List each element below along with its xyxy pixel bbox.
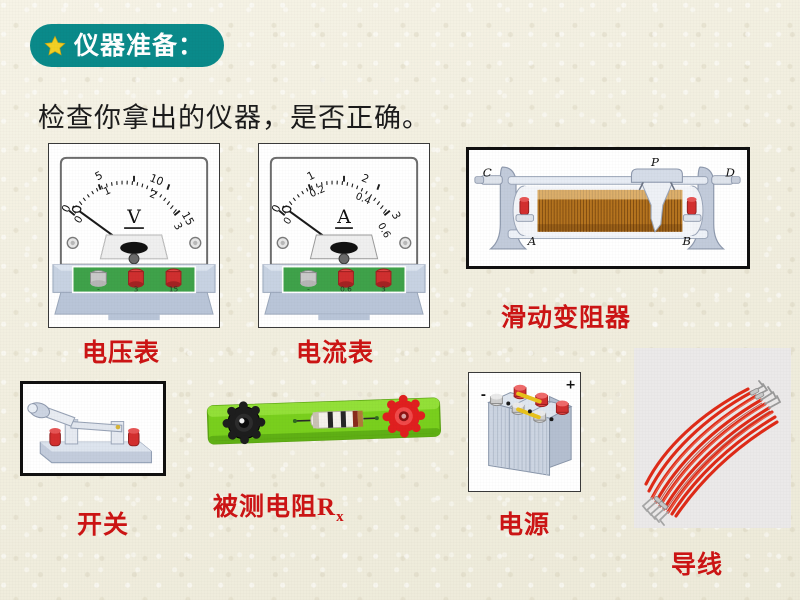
power-source-illustration: - +: [469, 373, 580, 491]
switch-illustration: [23, 384, 163, 473]
rheostat-label-B: B: [681, 234, 691, 248]
resistor-caption-prefix: 被测电阻: [213, 492, 317, 521]
voltmeter-unit-symbol: V: [126, 207, 141, 228]
power-source-negative-label: -: [481, 388, 486, 403]
voltmeter-terminal-label-3: 3: [134, 284, 139, 293]
ammeter-terminal-label-negative: -: [307, 284, 310, 293]
wires-caption: 导线: [671, 545, 723, 581]
rheostat-caption: 滑动变阻器: [501, 298, 631, 334]
power-source-caption: 电源: [498, 505, 550, 541]
section-title-text: 仪器准备：: [74, 33, 204, 58]
section-title-badge: 仪器准备：: [30, 24, 224, 67]
ammeter-figure: 0 1 2 3 0 0.2 0.4 0.6 A: [258, 143, 430, 328]
resistor-figure: [200, 392, 448, 454]
voltmeter-terminal-label-negative: -: [97, 284, 100, 293]
resistor-caption-symbol: R: [317, 494, 336, 521]
ammeter-terminal-label-3: 3: [381, 284, 386, 293]
voltmeter-figure: 0 5 10 15 0 1 2 3 V: [48, 143, 220, 328]
instruction-text: 检查你拿出的仪器，是否正确。: [38, 96, 430, 135]
ammeter-illustration: 0 1 2 3 0 0.2 0.4 0.6 A: [259, 144, 429, 327]
resistor-caption: 被测电阻Rx: [213, 487, 345, 526]
rheostat-figure: C D A B P: [466, 147, 750, 269]
ammeter-unit-symbol: A: [336, 207, 351, 228]
voltmeter-illustration: 0 5 10 15 0 1 2 3 V: [49, 144, 219, 327]
voltmeter-caption: 电压表: [82, 333, 160, 369]
rheostat-label-P: P: [650, 155, 659, 169]
rheostat-label-C: C: [483, 166, 492, 180]
wires-figure: [634, 348, 791, 528]
power-source-positive-label: +: [565, 378, 576, 393]
star-icon: [44, 35, 66, 57]
slide-canvas: 仪器准备： 检查你拿出的仪器，是否正确。: [0, 0, 800, 600]
switch-figure: [20, 381, 166, 476]
wires-illustration: [634, 348, 791, 528]
voltmeter-terminal-label-15: 15: [169, 284, 179, 293]
rheostat-label-D: D: [724, 166, 734, 180]
ammeter-caption: 电流表: [296, 333, 374, 369]
switch-caption: 开关: [77, 505, 129, 541]
ammeter-terminal-label-06: 0.6: [340, 284, 352, 293]
resistor-illustration: [200, 392, 448, 454]
rheostat-label-A: A: [527, 234, 536, 248]
rheostat-illustration: C D A B P: [469, 150, 747, 266]
resistor-caption-subscript: x: [336, 509, 345, 525]
power-source-figure: - +: [468, 372, 581, 492]
